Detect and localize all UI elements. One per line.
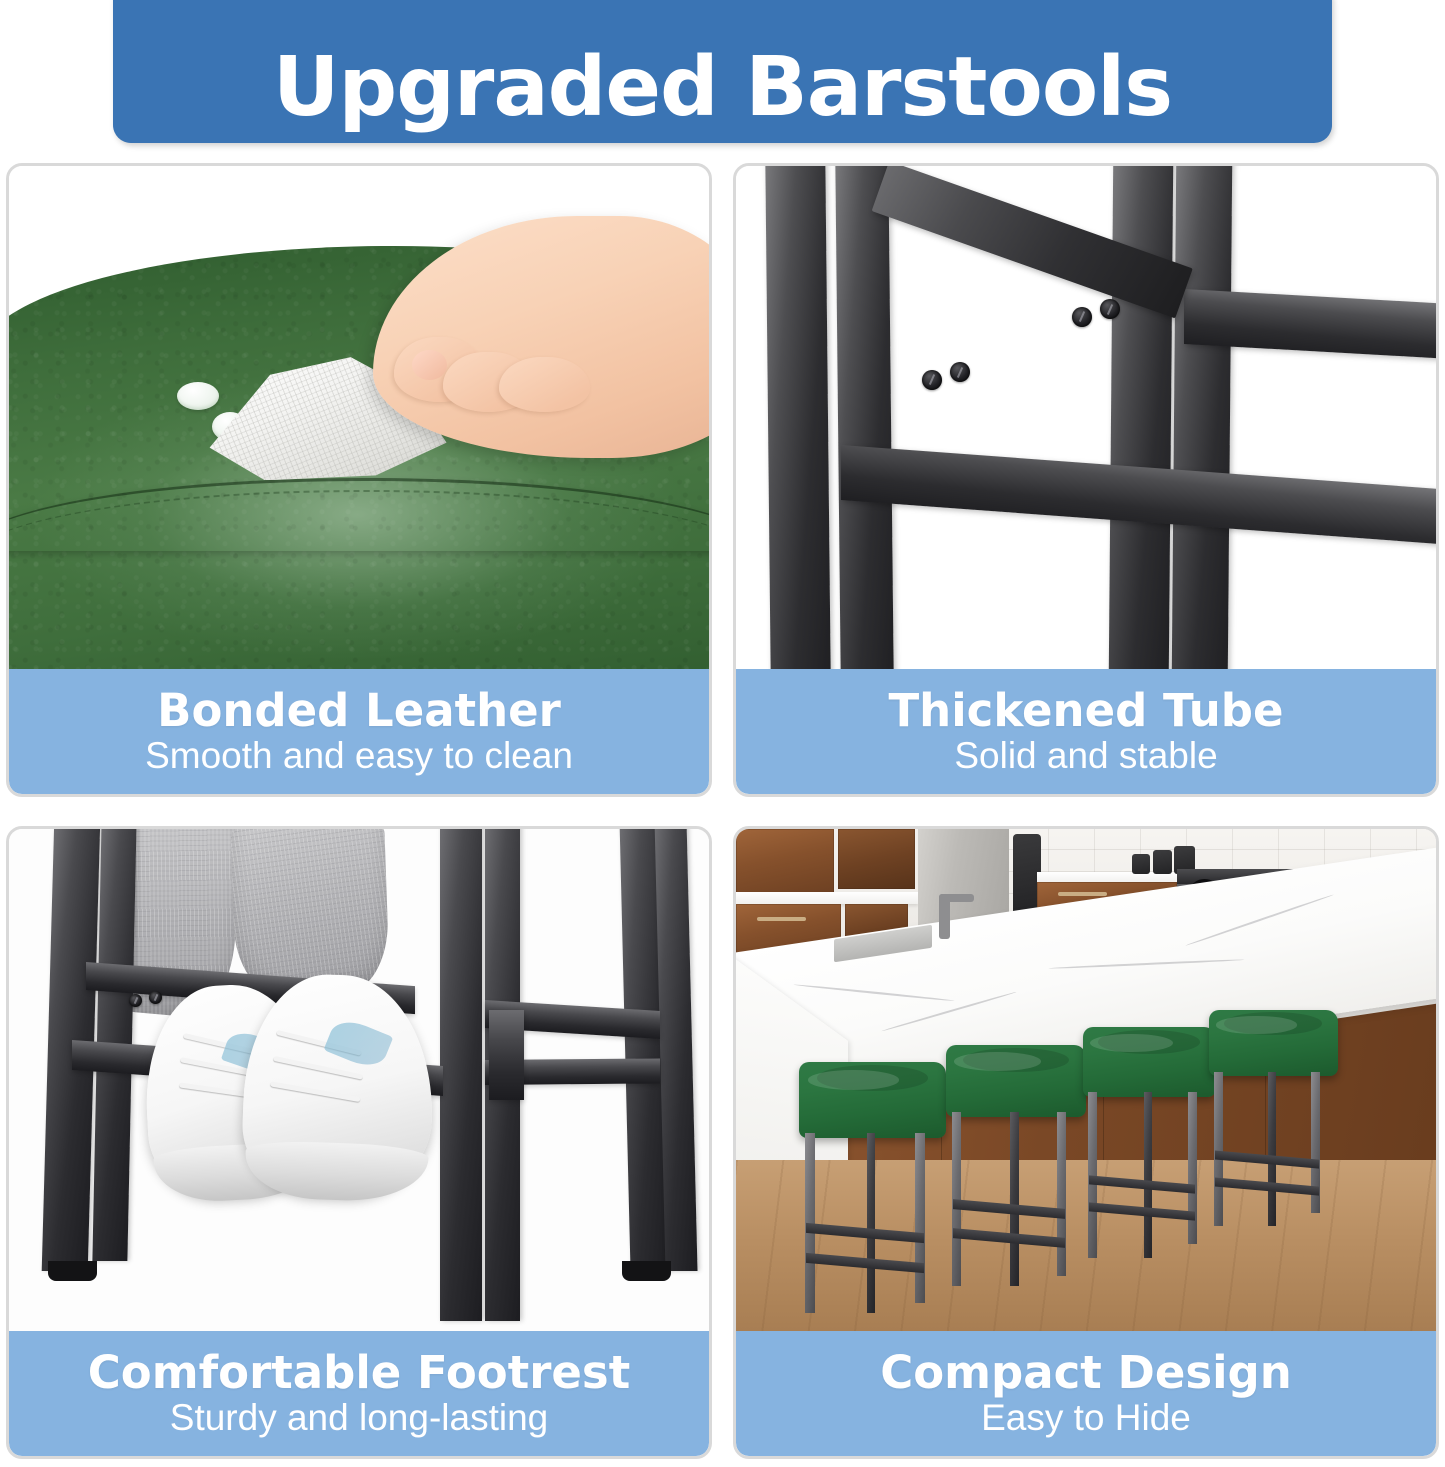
upper-cabinet-left-2 xyxy=(838,829,915,889)
feature-panel-thickened-tube: Thickened Tube Solid and stable xyxy=(733,163,1439,797)
pants-leg-right xyxy=(230,829,390,997)
barstool-footrest-rail xyxy=(1215,1177,1319,1195)
barstool[interactable] xyxy=(946,1045,1086,1286)
barstool-footrest-rail xyxy=(806,1253,924,1273)
vertical-tube-left-inner xyxy=(835,166,893,669)
barstool-seat xyxy=(1083,1027,1216,1096)
comfortable-footrest-photo xyxy=(9,829,709,1331)
screw xyxy=(129,994,142,1007)
kitchen-canister xyxy=(1132,854,1150,874)
barstool-leg xyxy=(1057,1112,1067,1276)
feature-panel-comfortable-footrest: Comfortable Footrest Sturdy and long-las… xyxy=(6,826,712,1459)
pants-fabric-texture xyxy=(230,829,390,997)
barstool-leg xyxy=(1144,1092,1152,1258)
vertical-tube-right-inner xyxy=(1171,166,1232,669)
caption-thickened-tube: Thickened Tube Solid and stable xyxy=(736,669,1436,794)
caption-comfortable-footrest: Comfortable Footrest Sturdy and long-las… xyxy=(9,1331,709,1456)
caption-subtitle: Easy to Hide xyxy=(981,1398,1191,1439)
upper-cabinet-left xyxy=(736,829,834,894)
barstool[interactable] xyxy=(1083,1027,1216,1258)
caption-title: Compact Design xyxy=(880,1349,1292,1396)
caption-title: Bonded Leather xyxy=(157,687,561,734)
cabinet-handle xyxy=(757,917,806,921)
marble-vein xyxy=(1185,894,1334,947)
barstool-leg xyxy=(1268,1072,1276,1227)
barstool-seat xyxy=(1209,1010,1339,1076)
barstool-leg xyxy=(915,1133,925,1304)
cross-brace-center xyxy=(489,1010,524,1100)
caption-title: Thickened Tube xyxy=(888,687,1283,734)
barstool-footrest-rail xyxy=(953,1228,1065,1247)
caption-bonded-leather: Bonded Leather Smooth and easy to clean xyxy=(9,669,709,794)
barstool-leg xyxy=(1214,1072,1223,1227)
kitchen-canister xyxy=(1153,850,1173,874)
compact-design-photo xyxy=(736,829,1436,1331)
thumbnail xyxy=(412,350,447,380)
sneaker-swoosh xyxy=(323,1014,393,1071)
header-banner: Upgraded Barstools xyxy=(113,0,1332,143)
barstool-footrest-rail xyxy=(953,1199,1065,1218)
metal-frame-scene xyxy=(736,166,1436,669)
feature-panel-compact-design: Compact Design Easy to Hide xyxy=(733,826,1439,1459)
barstool[interactable] xyxy=(1209,1010,1339,1231)
kitchen-scene xyxy=(736,829,1436,1331)
barstool-footrest-rail xyxy=(1215,1151,1319,1169)
marble-vein xyxy=(882,992,1017,1033)
floor-protector-pad-right xyxy=(622,1261,671,1281)
barstool-footrest-rail xyxy=(806,1223,924,1243)
seat-highlight xyxy=(954,1052,1041,1071)
caption-subtitle: Smooth and easy to clean xyxy=(145,736,573,777)
floor-protector-pad-left xyxy=(48,1261,97,1281)
bonded-leather-photo xyxy=(9,166,709,669)
caption-title: Comfortable Footrest xyxy=(88,1349,630,1396)
barstool-seat xyxy=(799,1062,946,1137)
barstool[interactable] xyxy=(799,1062,946,1313)
seat-highlight xyxy=(1216,1016,1296,1033)
feature-panel-bonded-leather: Bonded Leather Smooth and easy to clean xyxy=(6,163,712,797)
barstool-seat xyxy=(946,1045,1086,1117)
marble-vein xyxy=(793,984,955,1002)
seat-highlight xyxy=(808,1070,899,1090)
cabinet-handle xyxy=(1058,892,1107,896)
barstool-footrest-rail xyxy=(1089,1203,1195,1222)
caption-compact-design: Compact Design Easy to Hide xyxy=(736,1331,1436,1456)
leather-scene xyxy=(9,166,709,669)
barstool-leg xyxy=(1010,1112,1018,1285)
caption-subtitle: Sturdy and long-lasting xyxy=(170,1398,548,1439)
back-counter-left xyxy=(736,892,918,905)
thickened-tube-photo xyxy=(736,166,1436,669)
screw xyxy=(950,362,970,382)
screw xyxy=(1072,307,1092,327)
caption-subtitle: Solid and stable xyxy=(954,736,1217,777)
finger xyxy=(499,357,590,412)
stool-leg-center xyxy=(440,829,482,1321)
barstool-footrest-rail xyxy=(1089,1175,1195,1194)
screw xyxy=(149,991,162,1004)
footrest-scene xyxy=(9,829,709,1331)
faucet-spout xyxy=(939,894,974,902)
page-title: Upgraded Barstools xyxy=(273,47,1172,129)
barstool-leg xyxy=(1188,1092,1197,1244)
marble-vein xyxy=(1048,959,1244,970)
screw xyxy=(922,370,942,390)
barstool-leg xyxy=(867,1133,876,1314)
vertical-tube-left xyxy=(765,166,830,669)
sneaker-lace xyxy=(270,1081,360,1102)
